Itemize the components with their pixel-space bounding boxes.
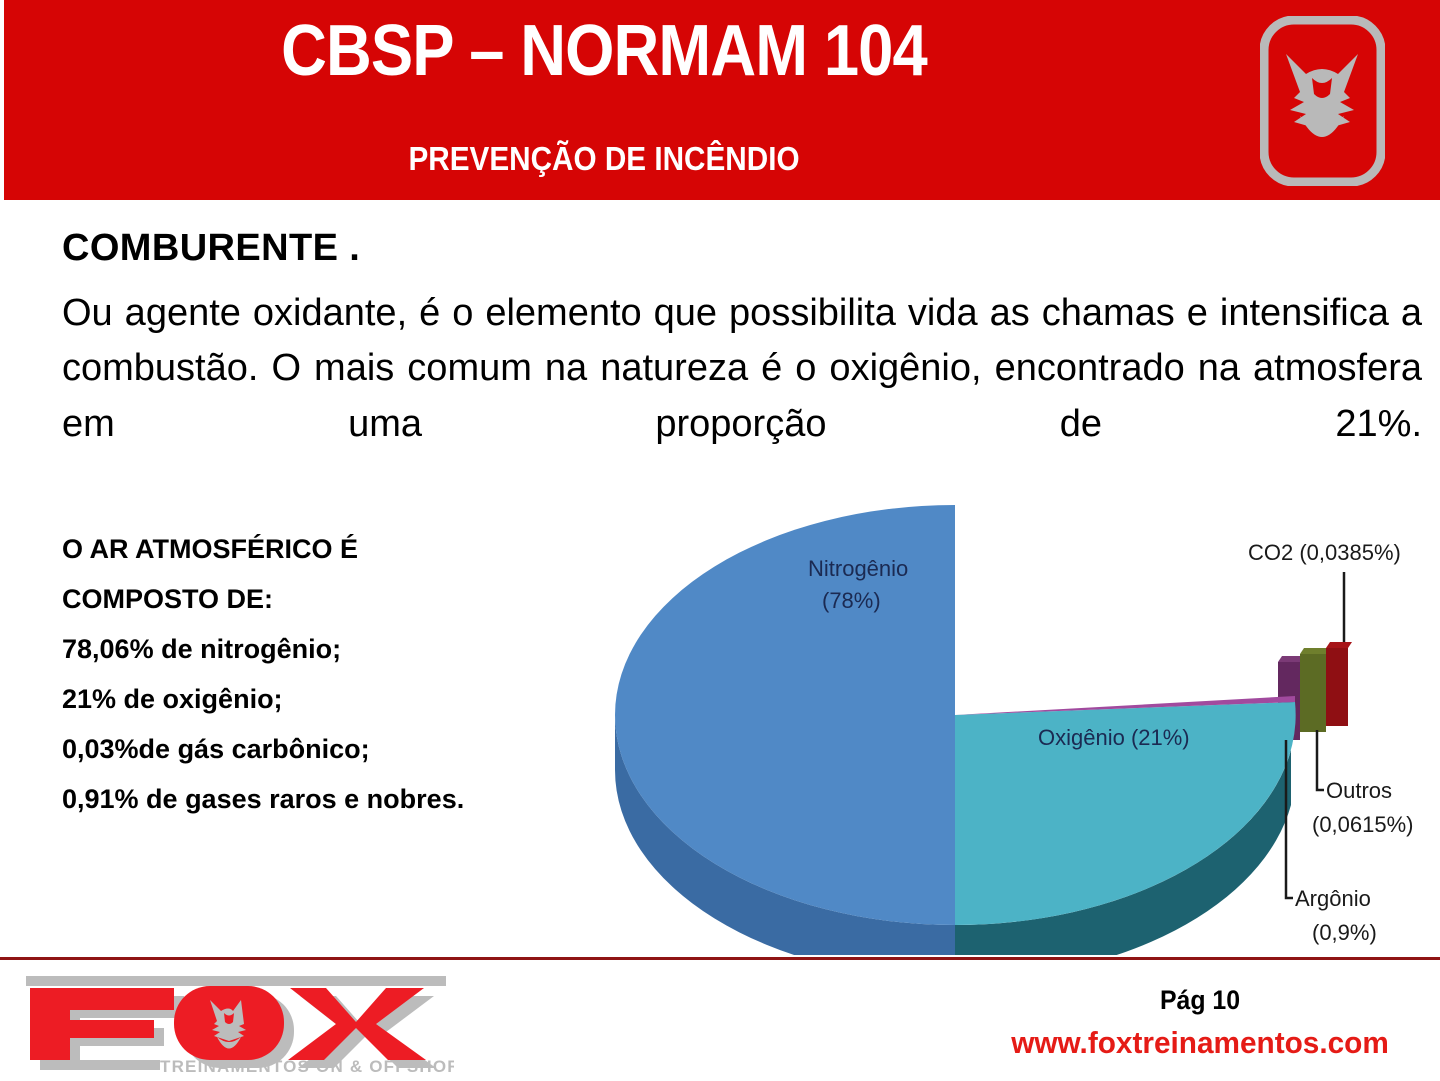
website-url[interactable]: www.foxtreinamentos.com [970,1025,1431,1061]
slide-body: COMBURENTE . Ou agente oxidante, é o ele… [0,200,1440,955]
slice-co2 [1326,648,1348,726]
label-argonio-line1: Argônio [1295,886,1371,911]
label-outros-line1: Outros [1326,778,1392,803]
page-number: Pág 10 [979,985,1421,1016]
section-heading: COMBURENTE . [62,227,360,270]
label-co2: CO2 (0,0385%) [1248,540,1401,565]
page-title: CBSP – NORMAM 104 [76,14,1132,90]
slide-header: CBSP – NORMAM 104 PREVENÇÃO DE INCÊNDIO [4,0,1440,200]
label-oxigenio: Oxigênio (21%) [1038,725,1190,750]
label-nitrogenio-line2: (78%) [822,588,881,613]
label-nitrogenio-line1: Nitrogênio [808,556,908,581]
page-subtitle: PREVENÇÃO DE INCÊNDIO [64,140,1144,178]
label-outros-line2: (0,0615%) [1312,812,1414,837]
air-composition-pie-chart: Nitrogênio (78%) Oxigênio (21%) CO2 (0,0… [560,490,1440,955]
slide-footer: TREINAMENTOS ON & OFFSHORE Pág 10 www.fo… [0,960,1440,1080]
label-argonio-line2: (0,9%) [1312,920,1377,945]
slice-outros [1300,654,1326,732]
fox-head-icon [1260,16,1385,186]
body-paragraph: Ou agente oxidante, é o elemento que pos… [62,286,1422,508]
fox-logo-tagline: TREINAMENTOS ON & OFFSHORE [160,1057,454,1076]
fox-logo: TREINAMENTOS ON & OFFSHORE [14,972,454,1076]
